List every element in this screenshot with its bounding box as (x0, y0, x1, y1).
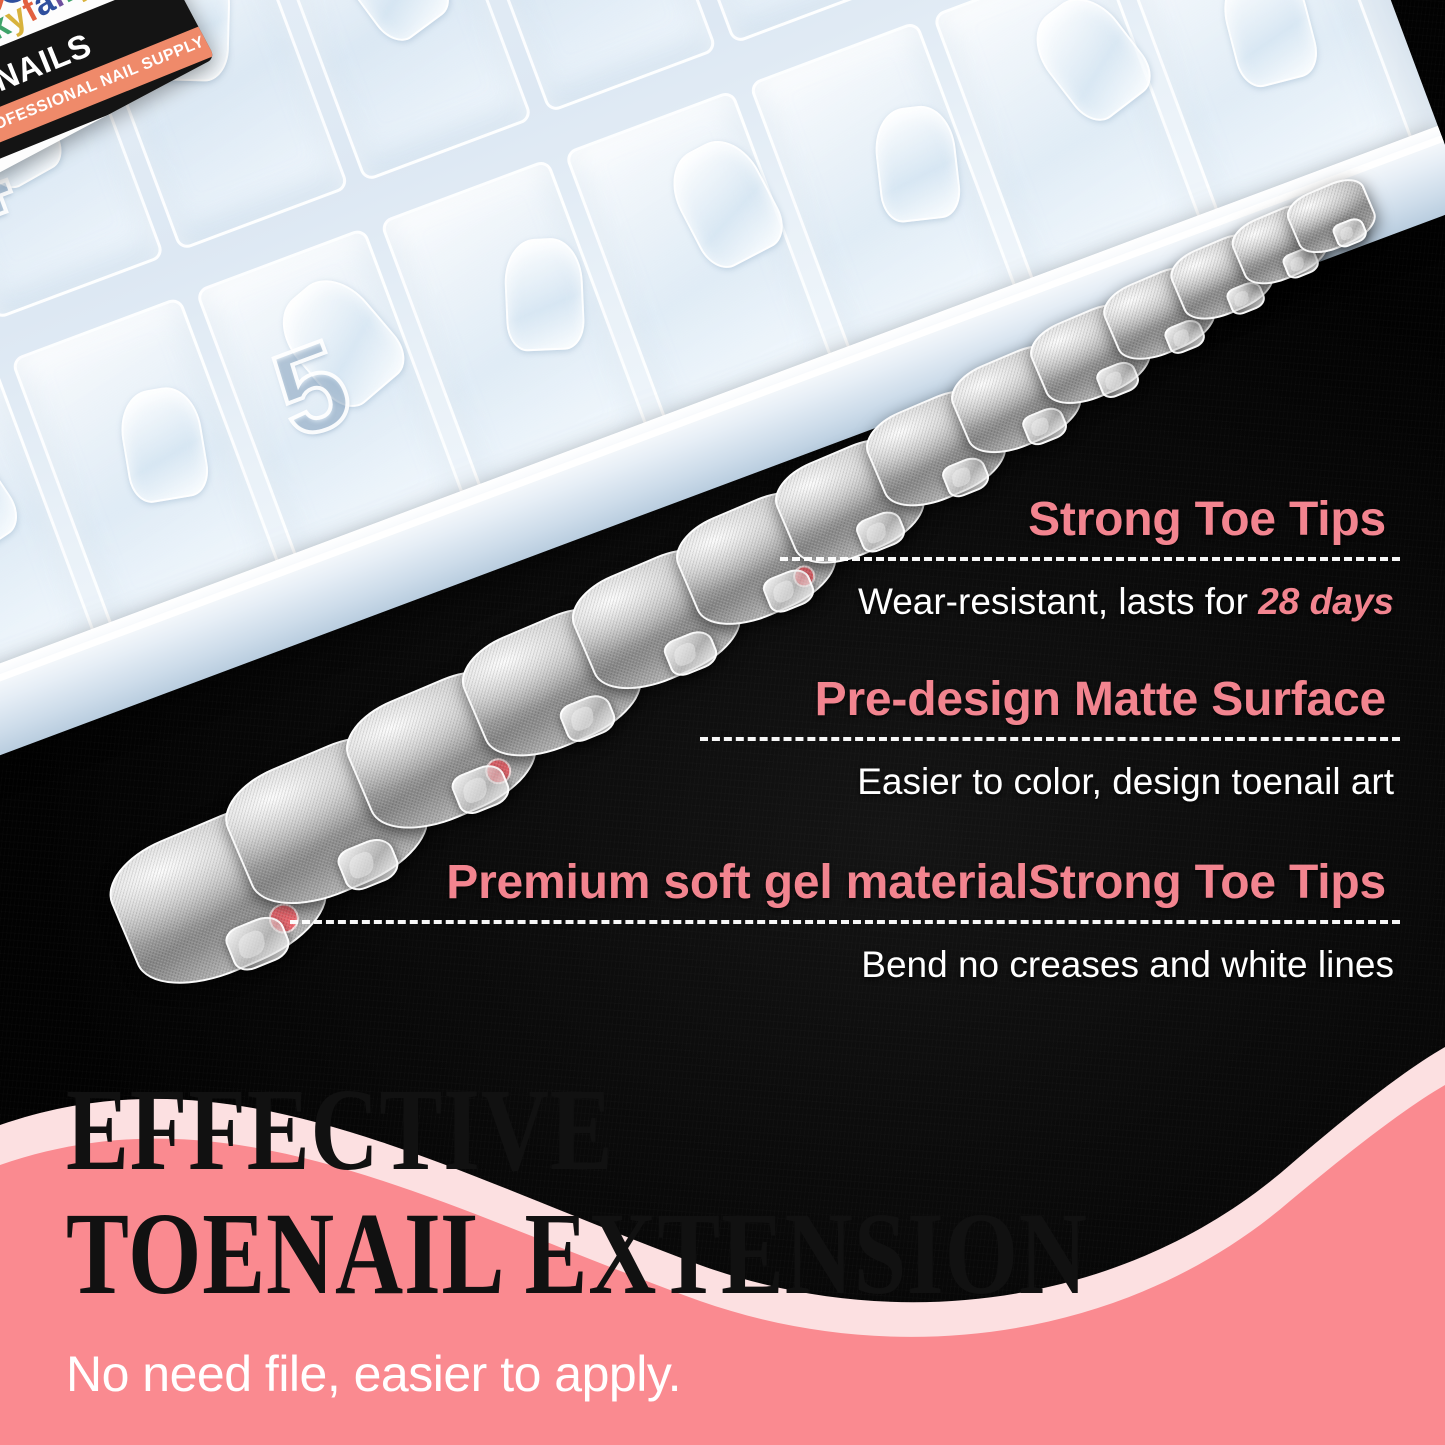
banner-headline-line2: TOENAIL EXTENSION (66, 1195, 1088, 1313)
loose-nail-tip (503, 237, 586, 352)
feature-subtitle-text: Wear-resistant, lasts for (858, 581, 1258, 622)
feature-subtitle: Wear-resistant, lasts for 28 days (780, 581, 1400, 623)
feature-divider (780, 557, 1400, 561)
feature-title: Pre-design Matte Surface (700, 672, 1400, 727)
banner-headline-line1: EFFECTIVE (66, 1071, 613, 1189)
feature-divider (290, 920, 1400, 924)
feature-callout-2: Pre-design Matte Surface Easier to color… (700, 672, 1400, 803)
feature-callout-1: Strong Toe Tips Wear-resistant, lasts fo… (780, 492, 1400, 623)
feature-title: Strong Toe Tips (780, 492, 1400, 547)
banner-text-block: EFFECTIVE TOENAIL EXTENSION No need file… (0, 1045, 1445, 1445)
feature-subtitle-text: Easier to color, design toenail art (857, 761, 1394, 802)
feature-callout-3: Premium soft gel materialStrong Toe Tips… (290, 855, 1400, 986)
banner-tagline: No need file, easier to apply. (66, 1345, 681, 1403)
feature-subtitle-highlight: 28 days (1258, 581, 1394, 622)
feature-title: Premium soft gel materialStrong Toe Tips (290, 855, 1400, 910)
product-infographic: 4 5 8 Luckyfairy FALSE NAILS PROFESSIONA… (0, 0, 1445, 1445)
feature-divider (700, 737, 1400, 741)
feature-subtitle: Easier to color, design toenail art (700, 761, 1400, 803)
